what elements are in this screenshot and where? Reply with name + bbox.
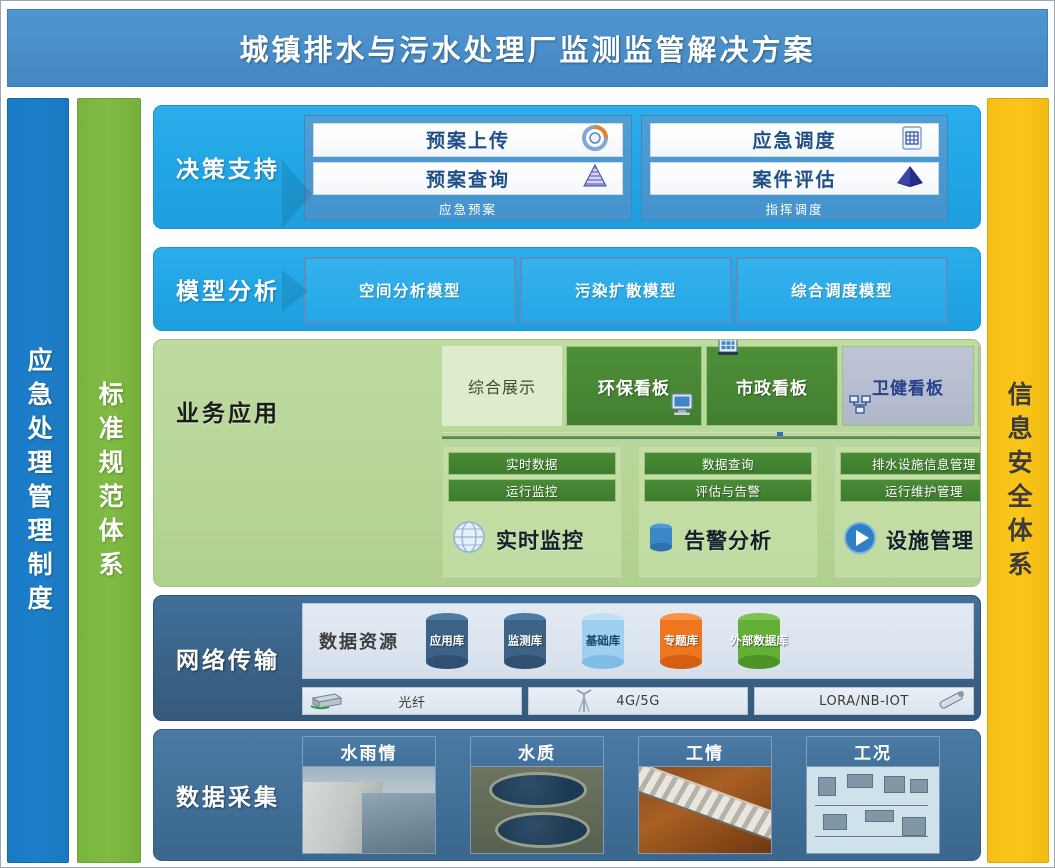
layer-model-label: 模型分析	[154, 248, 302, 330]
data-resource-panel: 数据资源 应用库 监测库	[302, 603, 974, 679]
collection-card-working-condition[interactable]: 工况	[806, 736, 940, 854]
dashboard-card-health[interactable]: 卫健看板	[842, 346, 974, 426]
decision-card-case-assessment-label: 案件评估	[752, 165, 836, 192]
decision-card-emergency-dispatch[interactable]: 应急调度	[650, 123, 939, 157]
business-column-alarm: 数据查询 评估与告警 告警分析	[638, 446, 818, 578]
business-pill-drainage-facility-info[interactable]: 排水设施信息管理	[840, 452, 981, 475]
database-icon	[644, 517, 678, 563]
database-foundation-label: 基础库	[571, 634, 635, 647]
dashboard-intro-label: 综合展示	[442, 346, 562, 426]
divider-thick-rule	[442, 436, 981, 439]
page-title: 城镇排水与污水处理厂监测监管解决方案	[239, 27, 815, 69]
business-content: 综合展示 环保看板 市政看板	[302, 340, 980, 586]
layer-model-analysis: 模型分析 空间分析模型 污染扩散模型 综合调度模型	[153, 247, 981, 331]
layer-network-label: 网络传输	[154, 596, 302, 720]
collection-card-water-rain-label: 水雨情	[303, 737, 435, 767]
decision-group-emergency-plan-caption: 应急预案	[313, 199, 623, 220]
dashboard-card-health-label: 卫健看板	[872, 374, 944, 399]
database-application-label: 应用库	[415, 634, 479, 647]
model-card-pollution-diffusion[interactable]: 污染扩散模型	[520, 257, 732, 323]
network-link-lora-nbiot-label: LORA/NB-IOT	[819, 694, 909, 709]
refresh-circle-icon	[582, 125, 608, 155]
antenna-icon	[573, 688, 595, 718]
dashboard-card-water-affairs[interactable]: 水务看板	[978, 346, 981, 426]
building-icon	[715, 339, 741, 362]
dashboard-card-environment-label: 环保看板	[598, 374, 670, 399]
collection-card-water-quality[interactable]: 水质	[470, 736, 604, 854]
collection-card-working-condition-label: 工况	[807, 737, 939, 767]
dashboard-row: 综合展示 环保看板 市政看板	[442, 346, 981, 426]
dashboard-card-municipal[interactable]: 市政看板	[706, 346, 838, 426]
diagram-root: 城镇排水与污水处理厂监测监管解决方案 应急处理管理制度 标准规范体系 信息安全体…	[0, 0, 1055, 868]
grid-table-icon	[900, 125, 924, 155]
decision-group-emergency-plan: 预案上传 预案查询	[304, 115, 632, 221]
layer-decision-label: 决策支持	[154, 106, 302, 228]
business-columns: 实时数据 运行监控 实时监控	[442, 446, 981, 578]
layer-business-label: 业务应用	[154, 394, 302, 428]
decision-card-plan-upload[interactable]: 预案上传	[313, 123, 623, 157]
business-pill-assessment-alarm[interactable]: 评估与告警	[644, 479, 812, 502]
network-link-4g5g-label: 4G/5G	[616, 694, 660, 709]
database-monitoring[interactable]: 监测库	[493, 610, 557, 672]
decision-card-plan-query[interactable]: 预案查询	[313, 162, 623, 196]
diagram-title-bar: 城镇排水与污水处理厂监测监管解决方案	[7, 9, 1048, 87]
database-thematic-label: 专题库	[649, 634, 713, 647]
business-column-facility: 排水设施信息管理 运行维护管理 设施管理	[834, 446, 981, 578]
divider-thin-rule	[442, 432, 981, 433]
business-feature-alarm-analysis[interactable]: 告警分析	[644, 509, 812, 571]
network-link-row: 光纤 4G/5G LORA/NB-IOT	[302, 687, 974, 715]
decision-card-plan-query-label: 预案查询	[426, 165, 510, 192]
scada-diagram-photo	[807, 767, 939, 853]
decision-group-command-dispatch: 应急调度 案件评估	[641, 115, 948, 221]
pillar-emergency-policy: 应急处理管理制度	[7, 98, 69, 863]
dashboard-card-municipal-label: 市政看板	[736, 374, 808, 399]
pyramid-dark-icon	[896, 163, 924, 193]
business-pill-operation-monitor[interactable]: 运行监控	[448, 479, 616, 502]
model-card-integrated-dispatch[interactable]: 综合调度模型	[736, 257, 948, 323]
decision-card-plan-upload-label: 预案上传	[426, 126, 510, 153]
collection-card-engineering-label: 工情	[639, 737, 771, 767]
fiber-switch-icon	[309, 690, 343, 716]
business-pill-operation-maintenance[interactable]: 运行维护管理	[840, 479, 981, 502]
database-thematic[interactable]: 专题库	[649, 610, 713, 672]
collection-card-water-rain[interactable]: 水雨情	[302, 736, 436, 854]
database-foundation[interactable]: 基础库	[571, 610, 635, 672]
pillar-information-security: 信息安全体系	[987, 98, 1049, 863]
decision-card-emergency-dispatch-label: 应急调度	[752, 126, 836, 153]
model-card-spatial-analysis[interactable]: 空间分析模型	[304, 257, 516, 323]
layer-decision-support: 决策支持 预案上传 预案查询	[153, 105, 981, 229]
monitor-icon	[669, 392, 695, 421]
business-column-monitoring: 实时数据 运行监控 实时监控	[442, 446, 622, 578]
business-pill-data-query[interactable]: 数据查询	[644, 452, 812, 475]
pillar-emergency-policy-label: 应急处理管理制度	[25, 347, 51, 619]
decision-card-case-assessment[interactable]: 案件评估	[650, 162, 939, 196]
collection-card-water-quality-label: 水质	[471, 737, 603, 767]
decision-group-command-dispatch-caption: 指挥调度	[650, 199, 939, 220]
data-resource-title: 数据资源	[303, 628, 415, 654]
network-link-fiber[interactable]: 光纤	[302, 687, 522, 715]
play-circle-icon	[840, 518, 880, 562]
business-feature-facility-management[interactable]: 设施管理	[840, 509, 981, 571]
network-link-lora-nbiot[interactable]: LORA/NB-IOT	[754, 687, 974, 715]
business-feature-facility-management-label: 设施管理	[886, 525, 974, 555]
business-feature-alarm-analysis-label: 告警分析	[684, 525, 772, 555]
database-external-label: 外部数据库	[727, 634, 791, 647]
sensor-icon	[935, 687, 969, 717]
layer-network-transmission: 网络传输 数据资源 应用库 监测库	[153, 595, 981, 721]
collection-card-row: 水雨情 水质 工情 工况	[302, 736, 978, 856]
globe-icon	[448, 517, 490, 563]
collection-card-engineering[interactable]: 工情	[638, 736, 772, 854]
pillar-information-security-label: 信息安全体系	[1005, 381, 1031, 585]
network-icon	[848, 394, 872, 421]
pyramid-light-icon	[582, 163, 608, 193]
layer-data-collection: 数据采集 水雨情 水质 工情 工况	[153, 729, 981, 861]
pillar-standard-system: 标准规范体系	[77, 98, 141, 863]
database-external[interactable]: 外部数据库	[727, 610, 791, 672]
pillar-standard-system-label: 标准规范体系	[96, 381, 122, 585]
pipeline-photo	[639, 767, 771, 853]
network-link-4g5g[interactable]: 4G/5G	[528, 687, 748, 715]
business-pill-realtime-data[interactable]: 实时数据	[448, 452, 616, 475]
business-feature-realtime-monitoring[interactable]: 实时监控	[448, 509, 616, 571]
database-monitoring-label: 监测库	[493, 634, 557, 647]
canal-photo	[303, 767, 435, 853]
treatment-plant-photo	[471, 767, 603, 853]
layer-collect-label: 数据采集	[154, 730, 302, 860]
database-application[interactable]: 应用库	[415, 610, 479, 672]
business-feature-realtime-monitoring-label: 实时监控	[496, 525, 584, 555]
network-link-fiber-label: 光纤	[398, 692, 425, 711]
layer-business-application: 业务应用 综合展示 环保看板 市政看板	[153, 339, 981, 587]
dashboard-divider	[442, 432, 981, 440]
dashboard-card-environment[interactable]: 环保看板	[566, 346, 702, 426]
